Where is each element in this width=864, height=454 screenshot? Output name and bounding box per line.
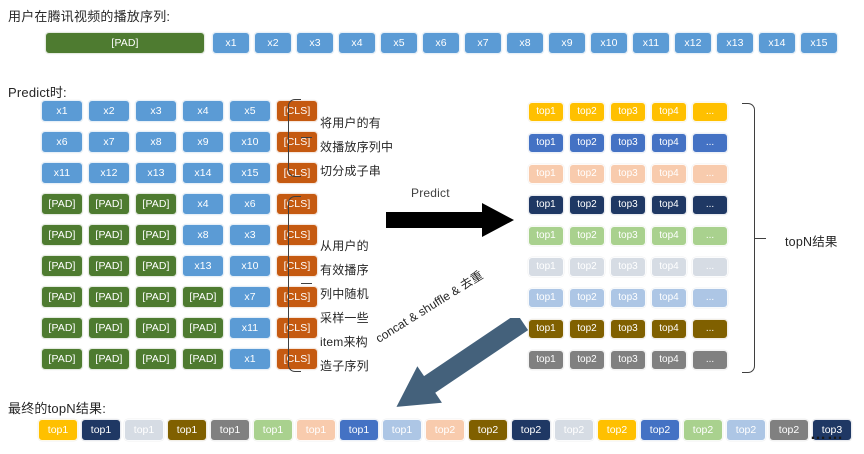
topn-cell: top3 — [610, 257, 646, 277]
group1-note-line: 切分成子串 — [320, 162, 381, 179]
topn-cell: ... — [692, 164, 728, 184]
topn-cell: top2 — [569, 319, 605, 339]
top-seq-item: x14 — [758, 32, 796, 54]
pad-token: [PAD] — [41, 348, 83, 370]
item-token: x1 — [41, 100, 83, 122]
item-token: x13 — [135, 162, 177, 184]
top-seq-item: x5 — [380, 32, 418, 54]
pad-token: [PAD] — [182, 286, 224, 308]
pad-token: [PAD] — [182, 348, 224, 370]
top-seq-item: x4 — [338, 32, 376, 54]
item-token: x7 — [229, 286, 271, 308]
pad-token: [PAD] — [88, 317, 130, 339]
final-topn-cell: top2 — [554, 419, 594, 441]
topn-cell: top3 — [610, 102, 646, 122]
group2-note-line: 有效播序 — [320, 261, 369, 278]
top-seq-item: x12 — [674, 32, 712, 54]
final-topn-cell: top2 — [726, 419, 766, 441]
item-token: x4 — [182, 100, 224, 122]
final-topn-cell: top2 — [769, 419, 809, 441]
pad-token: [PAD] — [41, 224, 83, 246]
topn-cell: top3 — [610, 133, 646, 153]
final-topn-cell: top2 — [425, 419, 465, 441]
pad-token: [PAD] — [135, 224, 177, 246]
final-topn-cell: top1 — [81, 419, 121, 441]
item-token: x13 — [182, 255, 224, 277]
topn-cell: top1 — [528, 319, 564, 339]
final-topn-cell: top1 — [253, 419, 293, 441]
group2-note-line: item来构 — [320, 333, 368, 350]
topn-cell: top2 — [569, 164, 605, 184]
final-topn-cell: top1 — [382, 419, 422, 441]
item-token: x12 — [88, 162, 130, 184]
top-sequence-title: 用户在腾讯视频的播放序列: — [8, 6, 170, 25]
topn-cell: top4 — [651, 102, 687, 122]
topn-cell: top2 — [569, 102, 605, 122]
group2-note-line: 列中随机 — [320, 285, 369, 302]
group2-note-line: 采样一些 — [320, 309, 369, 326]
topn-cell: top2 — [569, 288, 605, 308]
pad-token: [PAD] — [88, 348, 130, 370]
topn-cell: top1 — [528, 195, 564, 215]
item-token: x10 — [229, 255, 271, 277]
topn-cell: top4 — [651, 350, 687, 370]
item-token: x15 — [229, 162, 271, 184]
topn-cell: top3 — [610, 164, 646, 184]
pad-token: [PAD] — [41, 317, 83, 339]
topn-cell: top4 — [651, 257, 687, 277]
top-seq-item: x9 — [548, 32, 586, 54]
predict-arrow-icon — [386, 203, 514, 242]
item-token: x8 — [135, 131, 177, 153]
topn-cell: top1 — [528, 288, 564, 308]
group1-bracket-tick — [301, 137, 312, 138]
topn-cell: top3 — [610, 350, 646, 370]
topn-cell: top2 — [569, 133, 605, 153]
top-seq-item: x10 — [590, 32, 628, 54]
item-token: x3 — [229, 224, 271, 246]
final-topn-cell: top2 — [468, 419, 508, 441]
top-seq-item: x7 — [464, 32, 502, 54]
topn-cell: ... — [692, 226, 728, 246]
topn-bracket — [742, 103, 755, 373]
top-seq-item: x15 — [800, 32, 838, 54]
item-token: x5 — [229, 100, 271, 122]
topn-cell: top2 — [569, 195, 605, 215]
pad-token: [PAD] — [182, 317, 224, 339]
topn-cell: top4 — [651, 164, 687, 184]
topn-result-label: topN结果 — [785, 231, 838, 250]
pad-token: [PAD] — [135, 317, 177, 339]
topn-cell: top1 — [528, 226, 564, 246]
final-topn-cell: top1 — [124, 419, 164, 441]
topn-cell: top3 — [610, 319, 646, 339]
topn-cell: top3 — [610, 288, 646, 308]
pad-token: [PAD] — [135, 286, 177, 308]
topn-cell: ... — [692, 133, 728, 153]
top-seq-item: x11 — [632, 32, 670, 54]
predict-title: Predict时: — [8, 82, 67, 101]
topn-cell: top4 — [651, 226, 687, 246]
topn-cell: top2 — [569, 226, 605, 246]
final-topn-cell: top1 — [296, 419, 336, 441]
final-topn-cell: top2 — [511, 419, 551, 441]
topn-cell: top1 — [528, 102, 564, 122]
item-token: x9 — [182, 131, 224, 153]
diagram-canvas: 用户在腾讯视频的播放序列: [PAD]x1x2x3x4x5x6x7x8x9x10… — [0, 0, 864, 454]
pad-token: [PAD] — [88, 255, 130, 277]
item-token: x6 — [229, 193, 271, 215]
top-seq-item: x1 — [212, 32, 250, 54]
pad-token: [PAD] — [41, 286, 83, 308]
pad-token: [PAD] — [135, 348, 177, 370]
topn-cell: ... — [692, 319, 728, 339]
topn-cell: top4 — [651, 319, 687, 339]
pad-token: [PAD] — [88, 286, 130, 308]
final-topn-cell: top2 — [597, 419, 637, 441]
topn-cell: top1 — [528, 257, 564, 277]
predict-arrow-label: Predict — [411, 186, 450, 200]
top-seq-item: x3 — [296, 32, 334, 54]
final-ellipsis: …… — [810, 426, 844, 444]
final-title: 最终的topN结果: — [8, 398, 106, 417]
pad-token: [PAD] — [88, 224, 130, 246]
topn-cell: top1 — [528, 164, 564, 184]
topn-cell: ... — [692, 350, 728, 370]
group1-note-line: 将用户的有 — [320, 114, 381, 131]
group2-note-line: 造子序列 — [320, 357, 369, 374]
item-token: x14 — [182, 162, 224, 184]
final-topn-cell: top2 — [683, 419, 723, 441]
item-token: x7 — [88, 131, 130, 153]
top-seq-item: x2 — [254, 32, 292, 54]
topn-cell: top4 — [651, 195, 687, 215]
item-token: x2 — [88, 100, 130, 122]
top-seq-item: x13 — [716, 32, 754, 54]
topn-cell: top1 — [528, 133, 564, 153]
top-seq-item: x8 — [506, 32, 544, 54]
final-topn-cell: top1 — [339, 419, 379, 441]
item-token: x8 — [182, 224, 224, 246]
pad-token: [PAD] — [41, 255, 83, 277]
final-topn-cell: top2 — [640, 419, 680, 441]
topn-bracket-tick — [755, 238, 766, 239]
item-token: x6 — [41, 131, 83, 153]
topn-cell: ... — [692, 102, 728, 122]
pad-token: [PAD] — [135, 255, 177, 277]
topn-cell: top4 — [651, 288, 687, 308]
topn-cell: top2 — [569, 350, 605, 370]
final-topn-cell: top1 — [167, 419, 207, 441]
item-token: x3 — [135, 100, 177, 122]
item-token: x1 — [229, 348, 271, 370]
group2-note-line: 从用户的 — [320, 237, 369, 254]
final-topn-cell: top1 — [210, 419, 250, 441]
top-seq-pad: [PAD] — [45, 32, 205, 54]
group2-bracket — [288, 196, 301, 372]
item-token: x11 — [41, 162, 83, 184]
topn-cell: top4 — [651, 133, 687, 153]
topn-cell: ... — [692, 195, 728, 215]
topn-cell: ... — [692, 257, 728, 277]
group1-bracket — [288, 99, 301, 177]
pad-token: [PAD] — [88, 193, 130, 215]
pad-token: [PAD] — [41, 193, 83, 215]
item-token: x10 — [229, 131, 271, 153]
pad-token: [PAD] — [135, 193, 177, 215]
topn-cell: top1 — [528, 350, 564, 370]
top-seq-item: x6 — [422, 32, 460, 54]
group1-note-line: 效播放序列中 — [320, 138, 393, 155]
group2-bracket-tick — [301, 283, 312, 284]
topn-cell: ... — [692, 288, 728, 308]
item-token: x4 — [182, 193, 224, 215]
final-topn-cell: top1 — [38, 419, 78, 441]
topn-cell: top2 — [569, 257, 605, 277]
topn-cell: top3 — [610, 195, 646, 215]
topn-cell: top3 — [610, 226, 646, 246]
item-token: x11 — [229, 317, 271, 339]
